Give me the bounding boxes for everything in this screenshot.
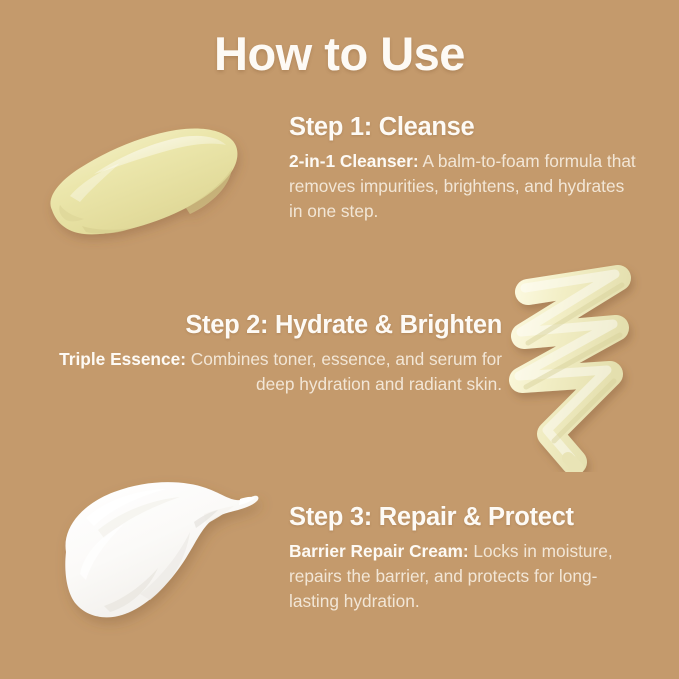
step-3-body: Barrier Repair Cream: Locks in moisture,… — [289, 539, 634, 614]
step-2-block: Step 2: Hydrate & Brighten Triple Essenc… — [26, 311, 502, 397]
how-to-use-infographic: How to Use — [0, 0, 679, 679]
step-3-block: Step 3: Repair & Protect Barrier Repair … — [289, 503, 634, 614]
step-2-heading: Step 2: Hydrate & Brighten — [26, 311, 502, 340]
step-2-description: Combines toner, essence, and serum for d… — [186, 349, 502, 394]
step-3-heading: Step 3: Repair & Protect — [289, 503, 634, 532]
step-1-product-name: 2-in-1 Cleanser: — [289, 151, 419, 171]
step-2-body: Triple Essence: Combines toner, essence,… — [26, 347, 502, 397]
step-1-body: 2-in-1 Cleanser: A balm-to-foam formula … — [289, 149, 639, 224]
essence-serum-swirl-swatch — [498, 262, 673, 472]
step-3-product-name: Barrier Repair Cream: — [289, 541, 469, 561]
step-1-block: Step 1: Cleanse 2-in-1 Cleanser: A balm-… — [289, 113, 639, 224]
page-title: How to Use — [0, 26, 679, 81]
step-2-product-name: Triple Essence: — [59, 349, 186, 369]
barrier-cream-swatch — [44, 466, 284, 642]
step-1-heading: Step 1: Cleanse — [289, 113, 639, 142]
cleansing-balm-swatch — [36, 112, 258, 252]
